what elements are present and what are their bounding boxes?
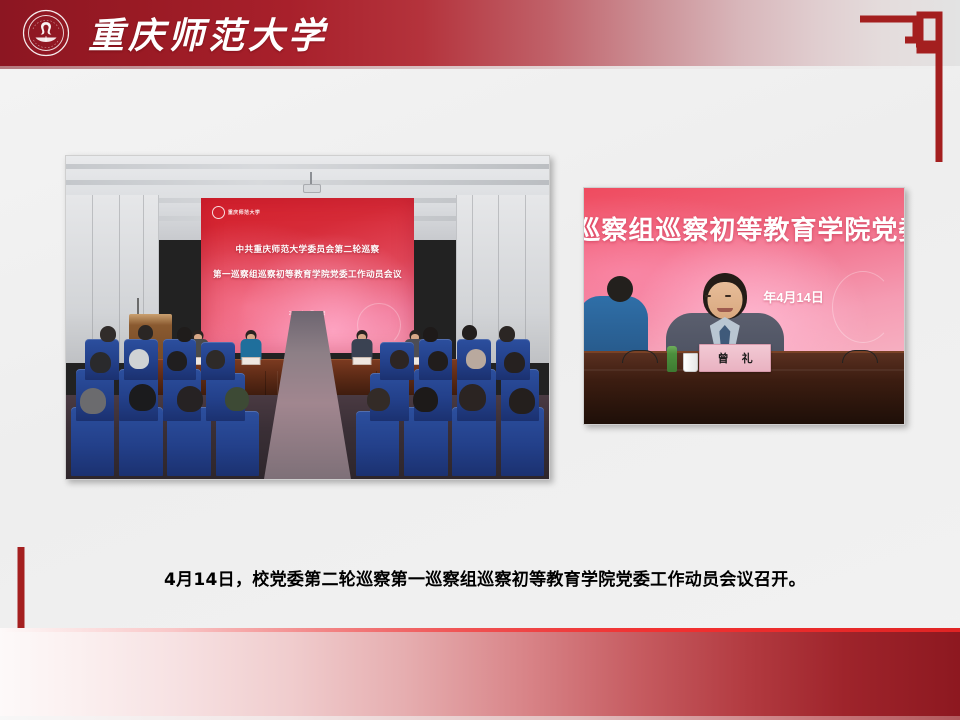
banner-logo-text: 重庆师范大学 bbox=[228, 209, 260, 216]
photo-speaker-closeup[interactable]: 巡察组巡察初等教育学院党委工 年4月14日 bbox=[583, 187, 905, 425]
speaker-banner-title: 巡察组巡察初等教育学院党委工 bbox=[583, 210, 905, 247]
paper-cup-icon bbox=[683, 353, 698, 372]
banner-seal-icon bbox=[212, 206, 225, 219]
banner-line-1: 中共重庆师范大学委员会第二轮巡察 bbox=[201, 243, 414, 255]
audience-area bbox=[66, 308, 549, 479]
speaker-banner-watermark bbox=[832, 271, 894, 343]
ceiling-projector-icon bbox=[303, 172, 319, 192]
seated-neighbor bbox=[583, 296, 648, 358]
speaker-nameplate: 曾 礼 bbox=[699, 344, 771, 372]
caption-block: 4月14日，校党委第二轮巡察第一巡察组巡察初等教育学院党委工作动员会议召开。 bbox=[130, 567, 830, 593]
banner-line-2: 第一巡察组巡察初等教育学院党委工作动员会议 bbox=[201, 268, 414, 280]
header-band: 重庆师范大学 bbox=[0, 0, 960, 66]
banner-logo: 重庆师范大学 bbox=[212, 206, 260, 219]
speaker-name: 曾 礼 bbox=[713, 350, 758, 366]
slide-canvas: 重庆师范大学 bbox=[0, 0, 960, 720]
page-title: 重庆师范大学 bbox=[88, 5, 328, 61]
photo-conference-hall[interactable]: 重庆师范大学 中共重庆师范大学委员会第二轮巡察 第一巡察组巡察初等教育学院党委工… bbox=[65, 155, 550, 480]
water-bottle-icon bbox=[667, 346, 677, 372]
caption-text: 4月14日，校党委第二轮巡察第一巡察组巡察初等教育学院党委工作动员会议召开。 bbox=[164, 570, 806, 590]
chongqing-normal-university-seal-icon bbox=[22, 9, 70, 57]
footer-band bbox=[0, 628, 960, 720]
